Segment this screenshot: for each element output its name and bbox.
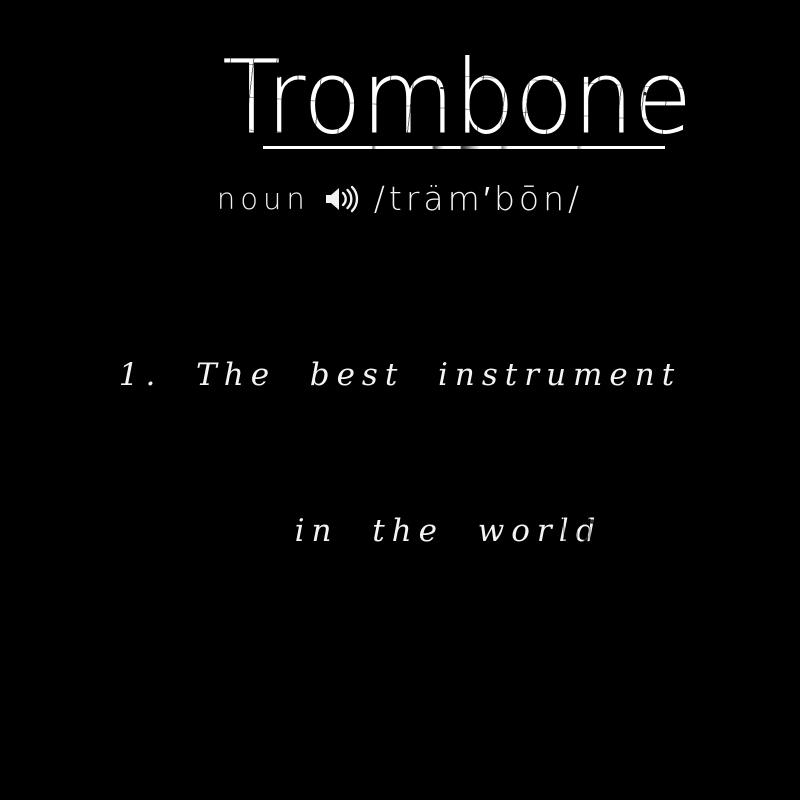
definition-line-2-head: in the wor <box>295 513 559 549</box>
definition-line-2: in the world <box>0 414 798 648</box>
speaker-icon[interactable] <box>324 184 364 214</box>
definition-block: 1. The best instrument in the world <box>0 336 800 648</box>
definition-line-2-tail: ld <box>559 513 603 549</box>
headword-block: Trombone <box>0 56 800 144</box>
pronunciation-row: noun /träm′bōn/ <box>0 180 800 218</box>
pronunciation-text: /träm′bōn/ <box>374 180 583 218</box>
definition-line-1: 1. The best instrument <box>0 336 800 414</box>
part-of-speech-label: noun <box>217 181 310 217</box>
title-underline-rule <box>263 146 665 149</box>
definition-poster: Trombone noun /träm′bōn/ 1. The best ins… <box>0 0 800 800</box>
page-title: Trombone <box>222 51 692 144</box>
